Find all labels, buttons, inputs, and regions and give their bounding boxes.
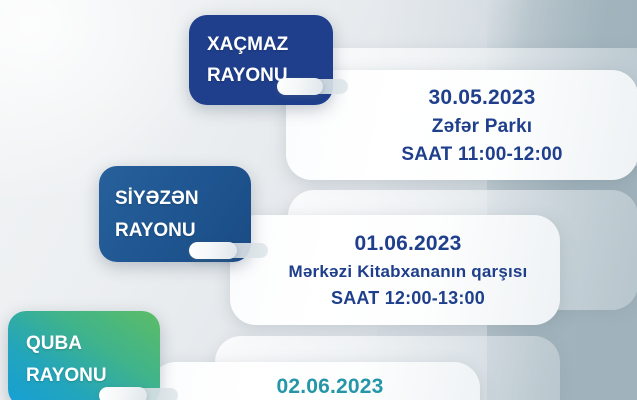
poster-canvas: 30.05.2023 Zəfər Parkı SAAT 11:00-12:00 …	[0, 0, 637, 400]
card-2-date: 01.06.2023	[354, 233, 461, 254]
tag-quba-line2: RAYONU	[26, 366, 160, 385]
card-1-date: 30.05.2023	[428, 87, 535, 108]
tag-quba-notch	[99, 387, 147, 400]
tag-siyezen-notch	[189, 242, 237, 259]
detail-card-2: 01.06.2023 Mərkəzi Kitabxananın qarşısı …	[230, 215, 560, 325]
tag-xacmaz-notch	[277, 78, 323, 95]
card-2-time: SAAT 12:00-13:00	[331, 289, 485, 307]
card-1-time: SAAT 11:00-12:00	[401, 145, 562, 164]
card-2-place: Mərkəzi Kitabxananın qarşısı	[289, 263, 528, 280]
tag-xacmaz-line1: XAÇMAZ	[207, 35, 333, 54]
detail-card-3: 02.06.2023	[150, 362, 480, 400]
tag-quba-line1: QUBA	[26, 334, 160, 353]
tag-siyezen-line2: RAYONU	[115, 221, 251, 240]
card-1-place: Zəfər Parkı	[432, 117, 532, 136]
tag-siyezen-line1: SİYƏZƏN	[115, 189, 251, 208]
card-3-date: 02.06.2023	[276, 376, 383, 397]
